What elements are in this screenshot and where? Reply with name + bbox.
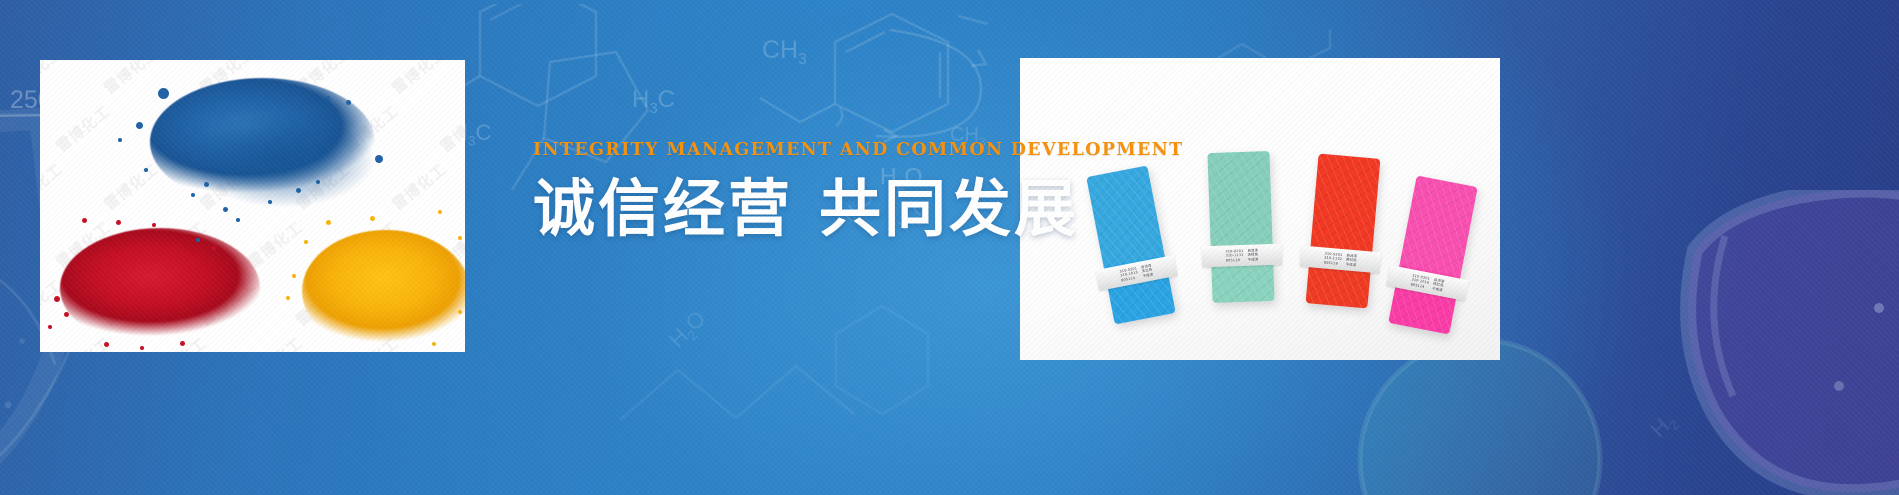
watermark-text: 雷博化工	[243, 216, 306, 272]
card-label-band: 310-0201310-1133805118自流漆天绿色干成漆	[1202, 244, 1283, 268]
blue-pigment-powder	[150, 78, 375, 206]
powder-speck	[223, 207, 228, 212]
powder-speck	[438, 210, 442, 214]
powder-speck	[346, 100, 351, 105]
powder-speck	[140, 346, 144, 350]
watermark-text: 雷博化工	[243, 332, 306, 352]
powder-speck	[458, 236, 462, 240]
powder-speck	[104, 342, 109, 347]
powder-speck	[64, 312, 69, 317]
watermark-text: 雷博化工	[40, 158, 67, 214]
molecule-label-h2o-b: H2O	[664, 306, 713, 355]
color-card-sky-blue: 310-0201310-1013805114自流漆天兰色干成漆	[1086, 165, 1175, 324]
powder-speck	[432, 342, 436, 346]
powder-speck	[304, 240, 308, 244]
card-label-name: 自流漆天绿色干成漆	[1247, 249, 1258, 262]
card-label-code: 310-0201310-1132805118	[1324, 252, 1343, 266]
powder-speck	[236, 218, 240, 222]
powder-speck	[316, 180, 320, 184]
watermark-text: 雷博化工	[51, 100, 114, 156]
molecule-label-ch3-a: CH3	[762, 36, 807, 69]
powder-speck	[54, 296, 60, 302]
card-texture	[1388, 175, 1477, 334]
powder-speck	[370, 216, 375, 221]
powder-speck	[292, 274, 296, 278]
card-label-name: 自流漆天兰色干成漆	[1141, 264, 1154, 278]
color-card-red: 310-0201310-1132805118自流漆鲜红色干成漆	[1306, 154, 1381, 309]
card-label-name: 自流漆鲜红色干成漆	[1346, 254, 1358, 267]
watermark-text: 雷博化工	[435, 100, 465, 156]
card-label-name: 自流漆桃红色干成漆	[1432, 278, 1445, 292]
watermark-text: 雷博化工	[40, 60, 67, 98]
color-sample-cards-photo[interactable]: 310-0201310-1013805114自流漆天兰色干成漆310-02013…	[1020, 58, 1500, 360]
watermark-text: 雷博化工	[387, 158, 450, 214]
powder-speck	[116, 220, 121, 225]
tagline-english: INTEGRITY MANAGEMENT AND COMMON DEVELOPM…	[533, 140, 1023, 160]
powder-speck	[152, 223, 156, 227]
molecule-label-h3c-a: H3C	[632, 86, 675, 117]
red-pigment-powder	[60, 228, 260, 348]
powder-speck	[118, 138, 122, 142]
color-card-mint-green: 310-0201310-1133805118自流漆天绿色干成漆	[1207, 151, 1274, 303]
headline-part-2: 共同发展	[819, 172, 1079, 245]
powder-speck	[82, 218, 87, 223]
card-label-code: 310-0201310-1133805118	[1225, 249, 1243, 262]
powder-speck	[326, 220, 331, 225]
powder-speck	[375, 155, 383, 163]
powder-speck	[136, 122, 143, 129]
powder-speck	[186, 135, 191, 140]
powder-speck	[158, 88, 169, 99]
powder-speck	[48, 325, 52, 329]
headline-part-1: 诚信经营	[533, 172, 793, 245]
promo-banner: 250	[0, 0, 1899, 495]
yellow-pigment-powder	[302, 230, 465, 352]
powder-speck	[458, 310, 462, 314]
card-label-code: 310-0201310-1013805114	[1119, 267, 1139, 283]
flask-blob-right	[1655, 190, 1899, 495]
powder-speck	[296, 188, 301, 193]
watermark-text: 雷博化工	[387, 60, 450, 98]
pigment-powder-photo[interactable]: 雷博化工雷博化工雷博化工雷博化工雷博化工雷博化工雷博化工雷博化工雷博化工雷博化工…	[40, 60, 465, 352]
powder-speck	[144, 168, 148, 172]
card-texture	[1306, 154, 1381, 309]
color-card-pink: 310-0201310-1016805114自流漆桃红色干成漆	[1388, 175, 1477, 334]
card-texture	[1086, 165, 1175, 324]
watermark-text: 雷博化工	[99, 60, 162, 98]
powder-speck	[268, 200, 272, 204]
powder-speck	[191, 193, 195, 197]
powder-speck	[326, 96, 330, 100]
headline-block: INTEGRITY MANAGEMENT AND COMMON DEVELOPM…	[533, 140, 1023, 245]
powder-speck	[204, 182, 209, 187]
molecule-label-h2-bottom: H2	[1645, 408, 1682, 445]
molecule-lines-bottom	[600, 300, 1020, 470]
powder-speck	[286, 296, 290, 300]
card-texture	[1207, 151, 1274, 303]
powder-speck	[212, 246, 216, 250]
headline-chinese: 诚信经营共同发展	[533, 174, 1023, 245]
powder-speck	[196, 238, 200, 242]
powder-speck	[180, 341, 185, 346]
card-label-code: 310-0201310-1016805114	[1410, 274, 1430, 290]
